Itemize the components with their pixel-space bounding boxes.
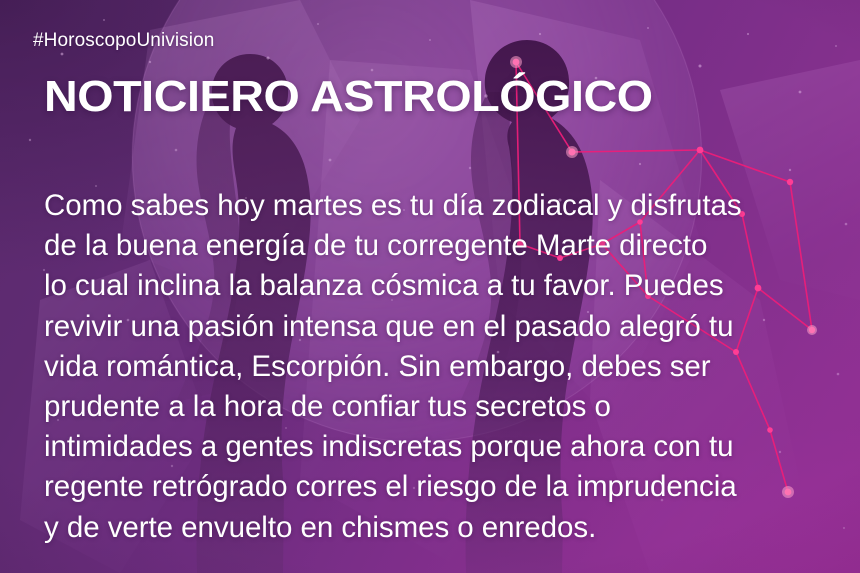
body-line: y de verte envuelto en chismes o enredos… — [44, 508, 834, 548]
horoscope-body-text: Como sabes hoy martes es tu día zodiacal… — [44, 186, 834, 548]
page-title: NOTICIERO ASTROLÓGICO — [44, 74, 653, 120]
body-line: prudente a la hora de confiar tus secret… — [44, 387, 834, 427]
body-line: regente retrógrado corres el riesgo de l… — [44, 467, 834, 507]
body-line: lo cual inclina la balanza cósmica a tu … — [44, 266, 834, 306]
body-line: Como sabes hoy martes es tu día zodiacal… — [44, 186, 834, 226]
body-line: vida romántica, Escorpión. Sin embargo, … — [44, 347, 834, 387]
body-line: intimidades a gentes indiscretas porque … — [44, 427, 834, 467]
body-line: revivir una pasión intensa que en el pas… — [44, 307, 834, 347]
card-content: #HoroscopoUnivision NOTICIERO ASTROLÓGIC… — [0, 0, 860, 573]
hashtag-label: #HoroscopoUnivision — [33, 30, 214, 52]
body-line: de la buena energía de tu corregente Mar… — [44, 226, 834, 266]
horoscope-card: #HoroscopoUnivision NOTICIERO ASTROLÓGIC… — [0, 0, 860, 573]
